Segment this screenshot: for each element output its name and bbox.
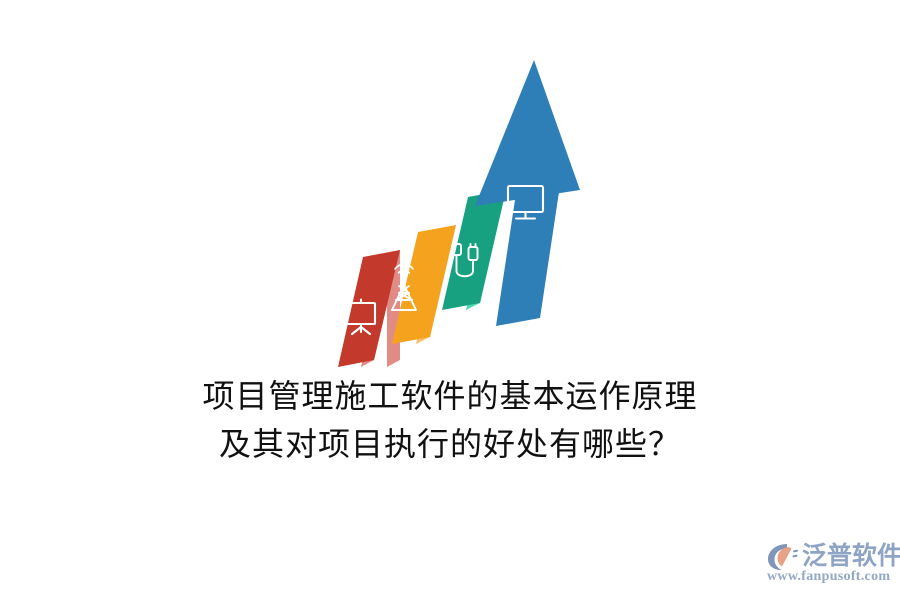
brand-watermark: 泛普软件 www.fanpusoft.com (766, 534, 894, 590)
headline-line-2: 及其对项目执行的好处有哪些？ (0, 420, 900, 468)
segment-2-face (392, 225, 456, 344)
brand-url: www.fanpusoft.com (767, 569, 890, 585)
page-canvas: 项目管理施工软件的基本运作原理 及其对项目执行的好处有哪些？ 泛普软件 www.… (0, 0, 900, 600)
headline-line-1: 项目管理施工软件的基本运作原理 (0, 372, 900, 420)
brand-row: 泛普软件 (766, 540, 900, 572)
page-title: 项目管理施工软件的基本运作原理 及其对项目执行的好处有哪些？ (0, 372, 900, 468)
ascending-step-arrow-graphic (330, 60, 600, 380)
arrow-head (475, 60, 580, 206)
brand-name: 泛普软件 (802, 541, 900, 571)
fanpu-logo-icon (766, 541, 800, 571)
